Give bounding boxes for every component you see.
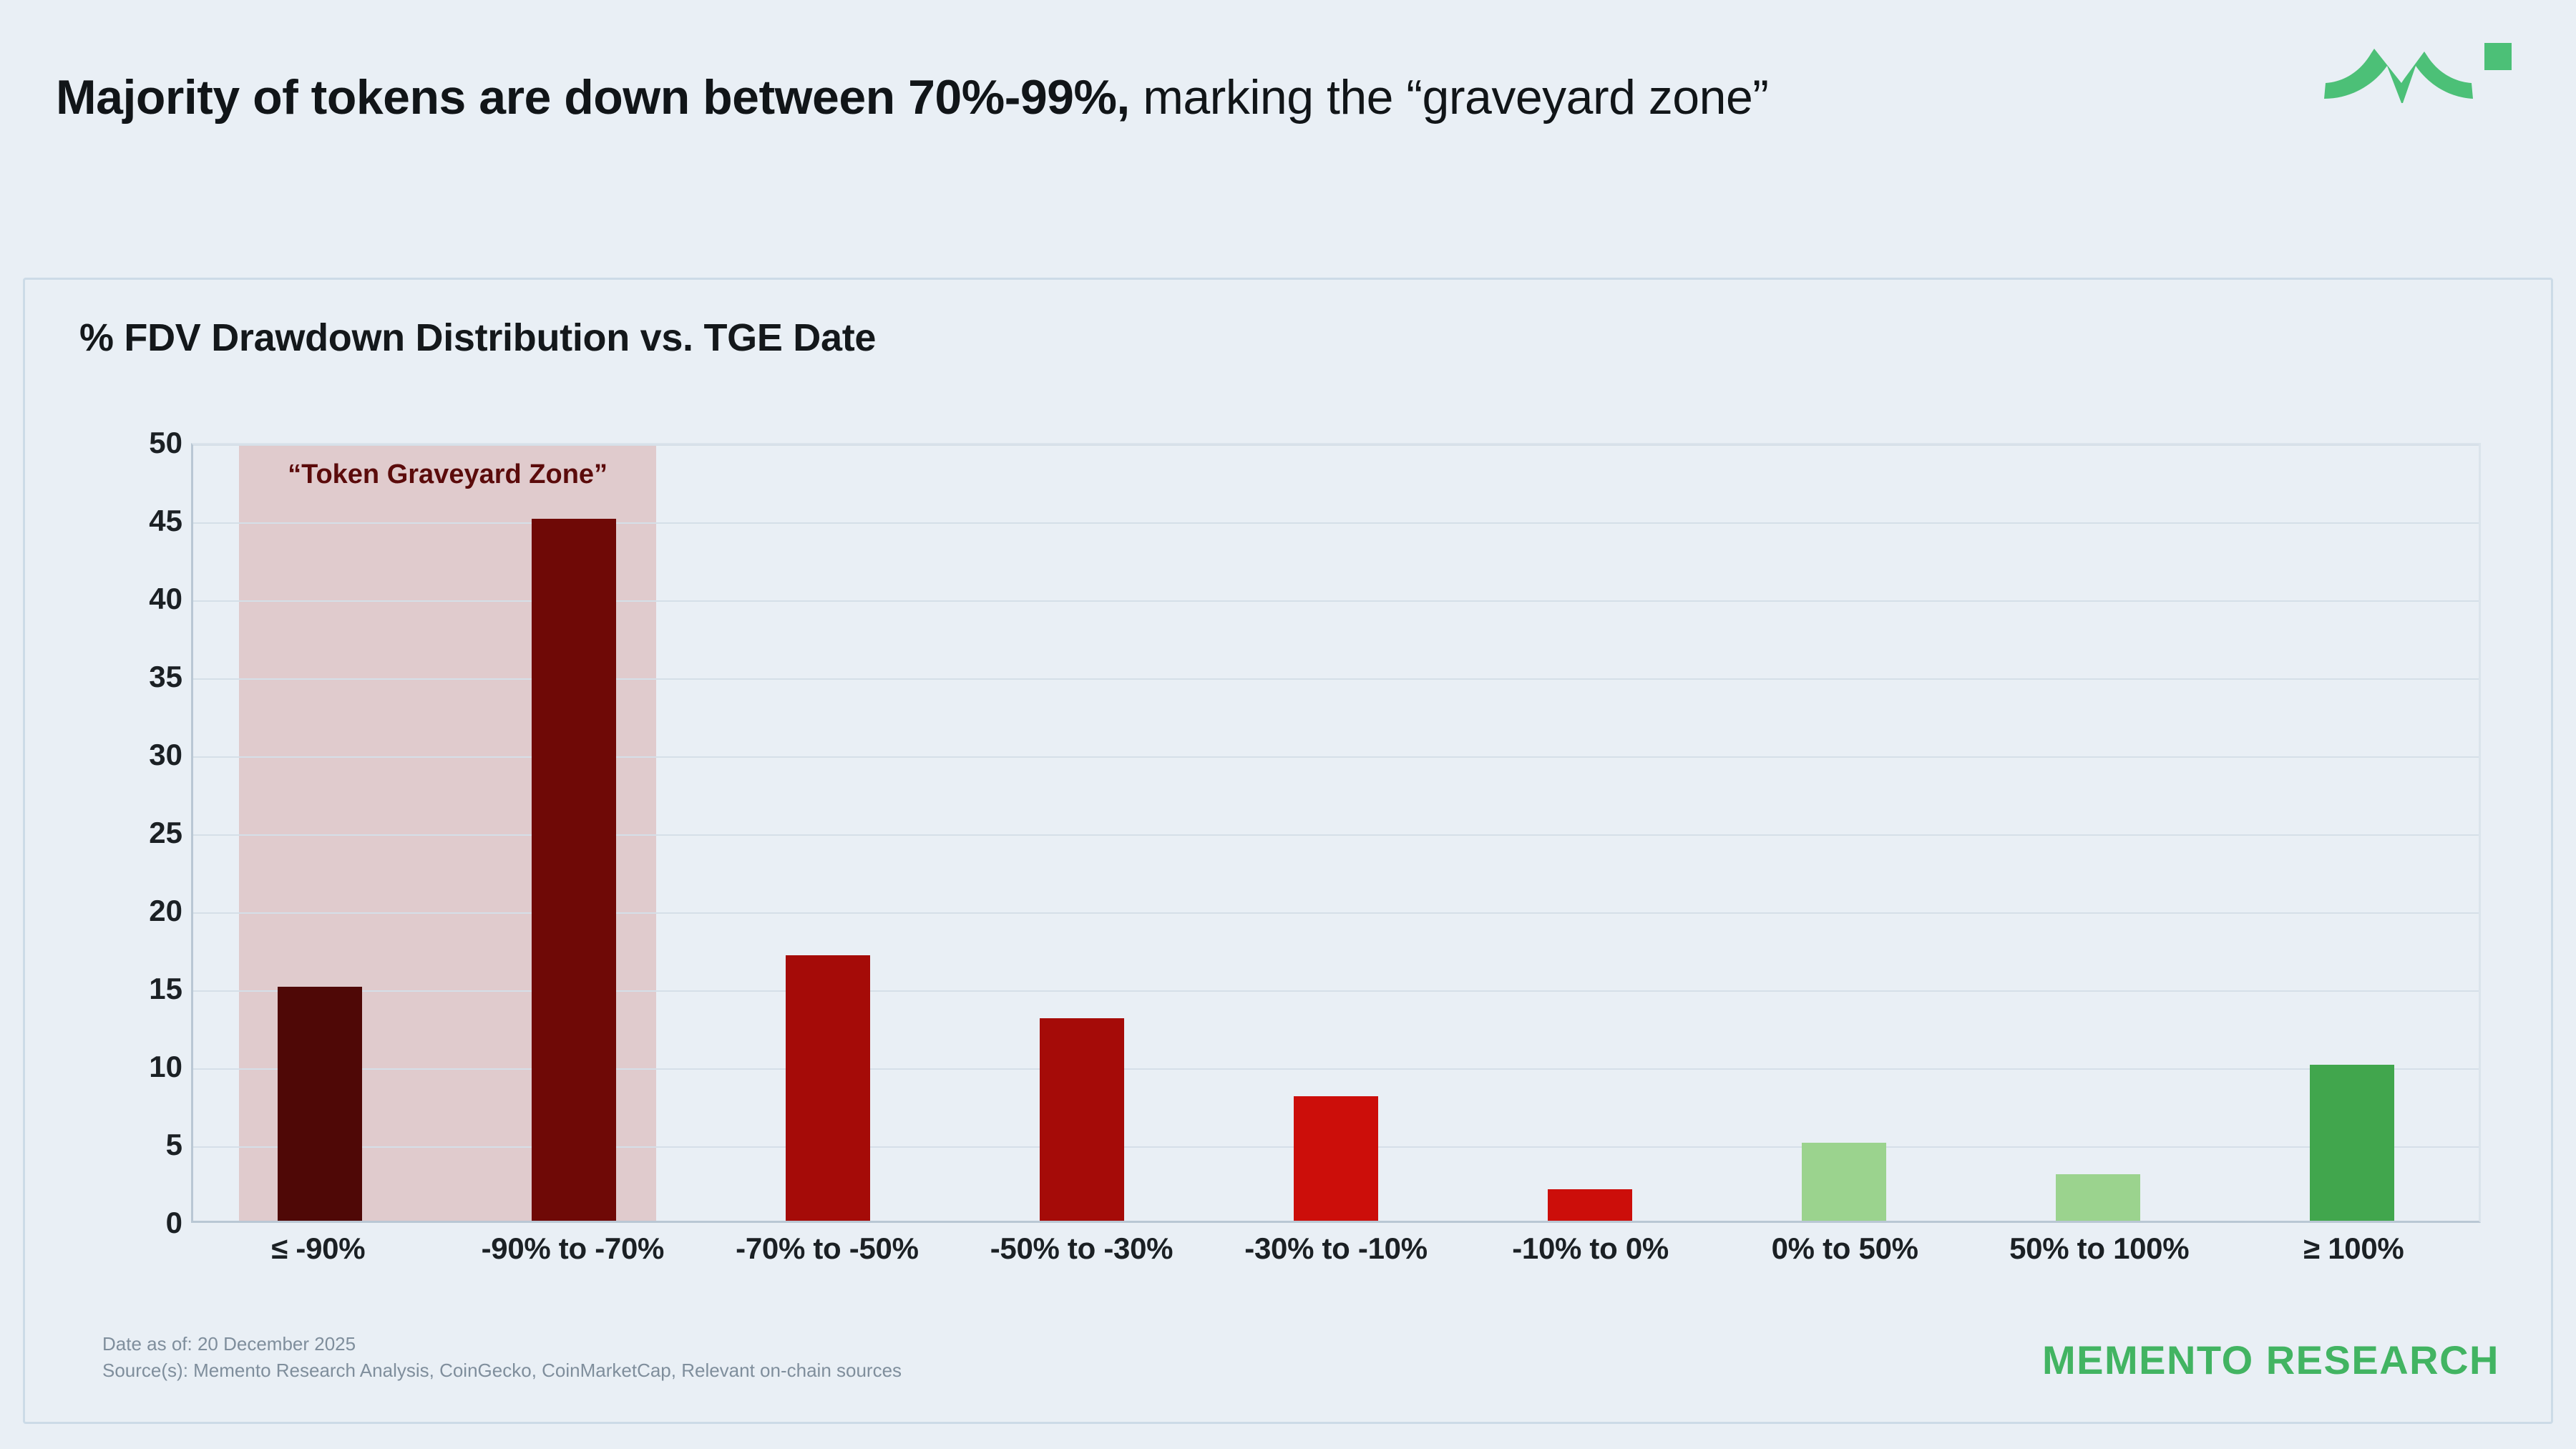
bar-9[interactable] [2310, 1065, 2394, 1221]
source-note: Source(s): Memento Research Analysis, Co… [102, 1357, 902, 1385]
headline-regular: marking the “graveyard zone” [1130, 70, 1769, 125]
x-axis-label: -50% to -30% [955, 1231, 1209, 1266]
bar-4[interactable] [1040, 1018, 1124, 1221]
y-axis-tick: 20 [68, 894, 182, 928]
date-note: Date as of: 20 December 2025 [102, 1331, 902, 1358]
y-axis-tick: 5 [68, 1128, 182, 1162]
x-axis-label: ≤ -90% [191, 1231, 446, 1266]
y-axis-tick: 45 [68, 504, 182, 538]
bar-6[interactable] [1548, 1189, 1632, 1221]
x-axis: ≤ -90%-90% to -70%-70% to -50%-50% to -3… [191, 1231, 2481, 1266]
memento-logo-icon [2317, 34, 2524, 127]
y-axis-tick: 40 [68, 582, 182, 616]
brand-wordmark: MEMENTO RESEARCH [2042, 1337, 2499, 1383]
y-axis-tick: 50 [68, 426, 182, 460]
bar-2[interactable] [532, 519, 616, 1221]
y-axis-tick: 10 [68, 1050, 182, 1084]
plot-wrapper: 50454035302520151050 “Token Graveyard Zo… [25, 443, 2555, 1294]
x-axis-label: ≥ 100% [2227, 1231, 2482, 1266]
chart-title: % FDV Drawdown Distribution vs. TGE Date [79, 316, 876, 360]
bar-8[interactable] [2056, 1174, 2140, 1221]
bar-slot [1717, 445, 1971, 1221]
x-axis-label: -70% to -50% [700, 1231, 955, 1266]
bar-slot [193, 445, 447, 1221]
graveyard-zone-label: “Token Graveyard Zone” [239, 458, 656, 491]
slide-root: Majority of tokens are down between 70%-… [0, 0, 2576, 1449]
y-axis-tick: 30 [68, 738, 182, 772]
y-axis-tick: 15 [68, 972, 182, 1006]
bar-slot [701, 445, 955, 1221]
x-axis-label: 0% to 50% [1717, 1231, 1972, 1266]
bar-slot [447, 445, 701, 1221]
plot-area: “Token Graveyard Zone” [191, 443, 2481, 1223]
footnotes: Date as of: 20 December 2025 Source(s): … [102, 1331, 902, 1385]
bar-3[interactable] [786, 955, 870, 1221]
x-axis-label: 50% to 100% [1972, 1231, 2227, 1266]
x-axis-label: -90% to -70% [446, 1231, 701, 1266]
page-title: Majority of tokens are down between 70%-… [56, 68, 2238, 127]
bar-slot [2225, 445, 2479, 1221]
y-axis-tick: 35 [68, 660, 182, 694]
y-axis: 50454035302520151050 [68, 443, 182, 1223]
x-axis-label: -30% to -10% [1209, 1231, 1463, 1266]
bar-slot [1463, 445, 1717, 1221]
headline-bold: Majority of tokens are down between 70%-… [56, 70, 1130, 125]
x-axis-label: -10% to 0% [1463, 1231, 1718, 1266]
bar-slot [1209, 445, 1463, 1221]
bar-slot [955, 445, 1209, 1221]
bar-5[interactable] [1294, 1096, 1378, 1221]
y-axis-tick: 25 [68, 816, 182, 850]
bar-series [193, 445, 2479, 1221]
header: Majority of tokens are down between 70%-… [56, 68, 2238, 127]
chart-card: % FDV Drawdown Distribution vs. TGE Date… [23, 278, 2553, 1424]
bar-1[interactable] [278, 987, 362, 1221]
y-axis-tick: 0 [68, 1206, 182, 1240]
bar-7[interactable] [1802, 1143, 1886, 1221]
bar-slot [1971, 445, 2225, 1221]
